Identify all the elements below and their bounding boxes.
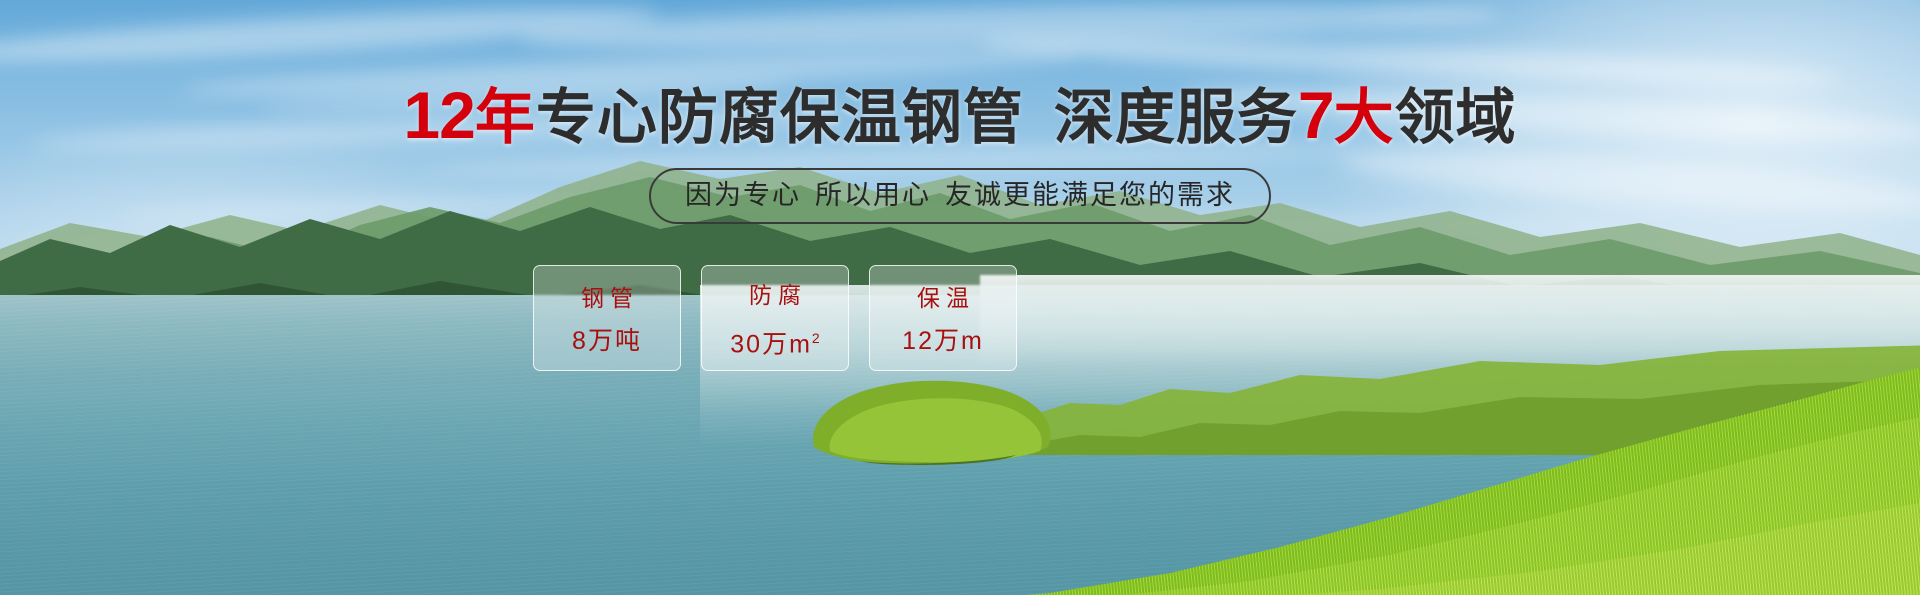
- stat-card-steel-pipe[interactable]: 钢管 8万吨: [533, 265, 681, 371]
- stat-card-value: 8万吨: [572, 327, 642, 355]
- stat-card-label: 钢管: [575, 285, 639, 311]
- headline-years-unit: 年: [475, 84, 536, 151]
- headline-years-number: 12: [403, 78, 474, 152]
- stat-card-group: 钢管 8万吨 防腐 30万m2 保温 12万m: [533, 265, 1017, 371]
- tagline-pill: 因为专心所以用心友诚更能满足您的需求: [649, 168, 1271, 224]
- tagline-segment-2: 所以用心: [815, 180, 931, 210]
- stat-card-superscript: 2: [812, 330, 820, 346]
- stat-card-label: 防腐: [743, 282, 807, 308]
- hero-banner: 12年专心防腐保温钢管深度服务7大领域 因为专心所以用心友诚更能满足您的需求 钢…: [0, 0, 1920, 595]
- headline-fields-number: 7: [1298, 78, 1334, 152]
- stat-card-insulation[interactable]: 保温 12万m: [869, 265, 1017, 371]
- stat-card-anticorrosion[interactable]: 防腐 30万m2: [701, 265, 849, 371]
- headline-service-text: 深度服务: [1054, 84, 1298, 151]
- stat-card-value: 30万m2: [730, 324, 819, 358]
- headline-fields-unit: 大: [1334, 84, 1395, 151]
- tagline-segment-3: 友诚更能满足您的需求: [945, 180, 1235, 210]
- stat-card-value: 12万m: [902, 327, 984, 355]
- banner-headline: 12年专心防腐保温钢管深度服务7大领域: [0, 84, 1920, 149]
- headline-fields-text: 领域: [1395, 84, 1517, 151]
- headline-main-text: 专心防腐保温钢管: [536, 84, 1024, 151]
- tagline-segment-1: 因为专心: [685, 180, 801, 210]
- stat-card-label: 保温: [911, 285, 975, 311]
